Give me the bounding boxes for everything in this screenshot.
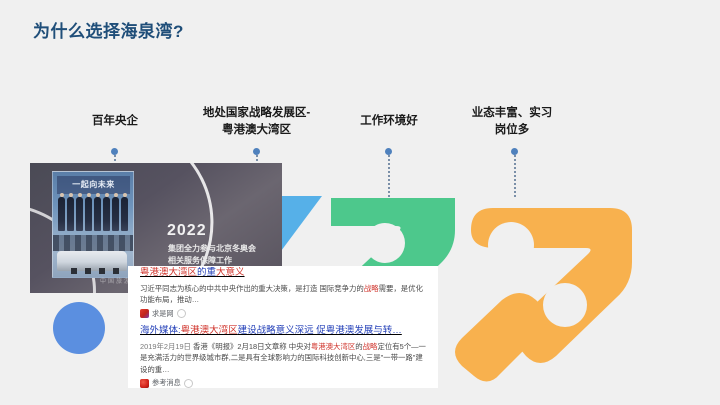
snippet-keyword: 战略 <box>363 342 378 351</box>
headline-part: 粤港澳大湾区 <box>181 325 238 336</box>
photo-year: 2022 <box>167 222 207 240</box>
search-result-2-snippet: 2019年2月19日 香港《明报》2月18日文章称 中央对粤港澳大湾区的战略定位… <box>140 341 428 375</box>
photo-caption: 集团全力参与北京冬奥会 相关服务保障工作 <box>168 243 256 267</box>
headline-part: 粤港澳大湾区 <box>140 267 197 278</box>
callout-label-4: 业态丰富、实习 岗位多 <box>446 105 578 138</box>
headline-part: 大意义 <box>216 267 245 278</box>
poster-title: 一起向未来 <box>57 176 130 194</box>
blue-circle-decoration <box>53 302 105 354</box>
poster-skyline <box>53 235 133 251</box>
search-results-card: 粤港澳大湾区的重大意义 习近平同志为核心的中共中央作出的重大决策，是打造 国际竞… <box>128 266 438 388</box>
snippet-text: 国际竞争力的 <box>319 284 363 293</box>
poster-image: 一起向未来 <box>52 171 134 278</box>
snippet-text: 香港《明报》2月18日文章称 中央对 <box>193 342 311 351</box>
callout-label-3: 工作环境好 <box>334 113 444 130</box>
search-result-2-headline[interactable]: 海外媒体:粤港澳大湾区建设战略意义深远 促粤港澳发展与转… <box>140 325 428 338</box>
search-result-2: 海外媒体:粤港澳大湾区建设战略意义深远 促粤港澳发展与转… 2019年2月19日… <box>140 325 428 388</box>
snippet-keyword: 粤港澳大湾区 <box>311 342 355 351</box>
page-title: 为什么选择海泉湾? <box>33 17 184 42</box>
callout-label-2: 地处国家战略发展区- 粤港澳大湾区 <box>184 105 329 138</box>
source-name: 参考消息 <box>152 378 181 388</box>
callout-label-1: 百年央企 <box>60 113 170 130</box>
snippet-text: 习近平同志为核心的中共中央作出的重大决策，是打造 <box>140 284 317 293</box>
search-result-1-source[interactable]: 求是网 <box>140 309 428 319</box>
more-options-icon[interactable] <box>184 379 193 388</box>
favicon-icon <box>140 309 149 318</box>
source-name: 求是网 <box>152 309 174 319</box>
more-options-icon[interactable] <box>177 309 186 318</box>
snippet-date: 2019年2月19日 <box>140 342 191 351</box>
snippet-keyword: 战略 <box>364 284 379 293</box>
favicon-icon <box>140 379 149 388</box>
search-result-1-snippet: 习近平同志为核心的中共中央作出的重大决策，是打造 国际竞争力的战略需要，是优化功… <box>140 283 428 306</box>
connector-line <box>388 155 390 197</box>
connector-dot-icon <box>111 148 118 155</box>
slide: 为什么选择海泉湾? 百年央企 地处国家战略发展区- 粤港澳大湾区 工作环境好 业… <box>0 0 720 405</box>
headline-part: 建设战略意义深远 促粤港澳发展与转… <box>238 325 402 336</box>
search-result-1: 粤港澳大湾区的重大意义 习近平同志为核心的中共中央作出的重大决策，是打造 国际竞… <box>140 267 428 319</box>
search-result-1-headline[interactable]: 粤港澳大湾区的重大意义 <box>140 267 428 280</box>
connector-dot-icon <box>511 148 518 155</box>
snippet-text: 的 <box>355 342 362 351</box>
search-result-2-source[interactable]: 参考消息 <box>140 378 428 388</box>
poster-bus <box>57 251 127 271</box>
connector-line <box>514 155 516 197</box>
poster-people <box>56 197 130 233</box>
headline-part: 海外媒体: <box>140 325 181 336</box>
connector-dot-icon <box>385 148 392 155</box>
connector-dot-icon <box>253 148 260 155</box>
headline-part: 的重 <box>197 267 216 278</box>
orange-hook <box>455 293 546 382</box>
